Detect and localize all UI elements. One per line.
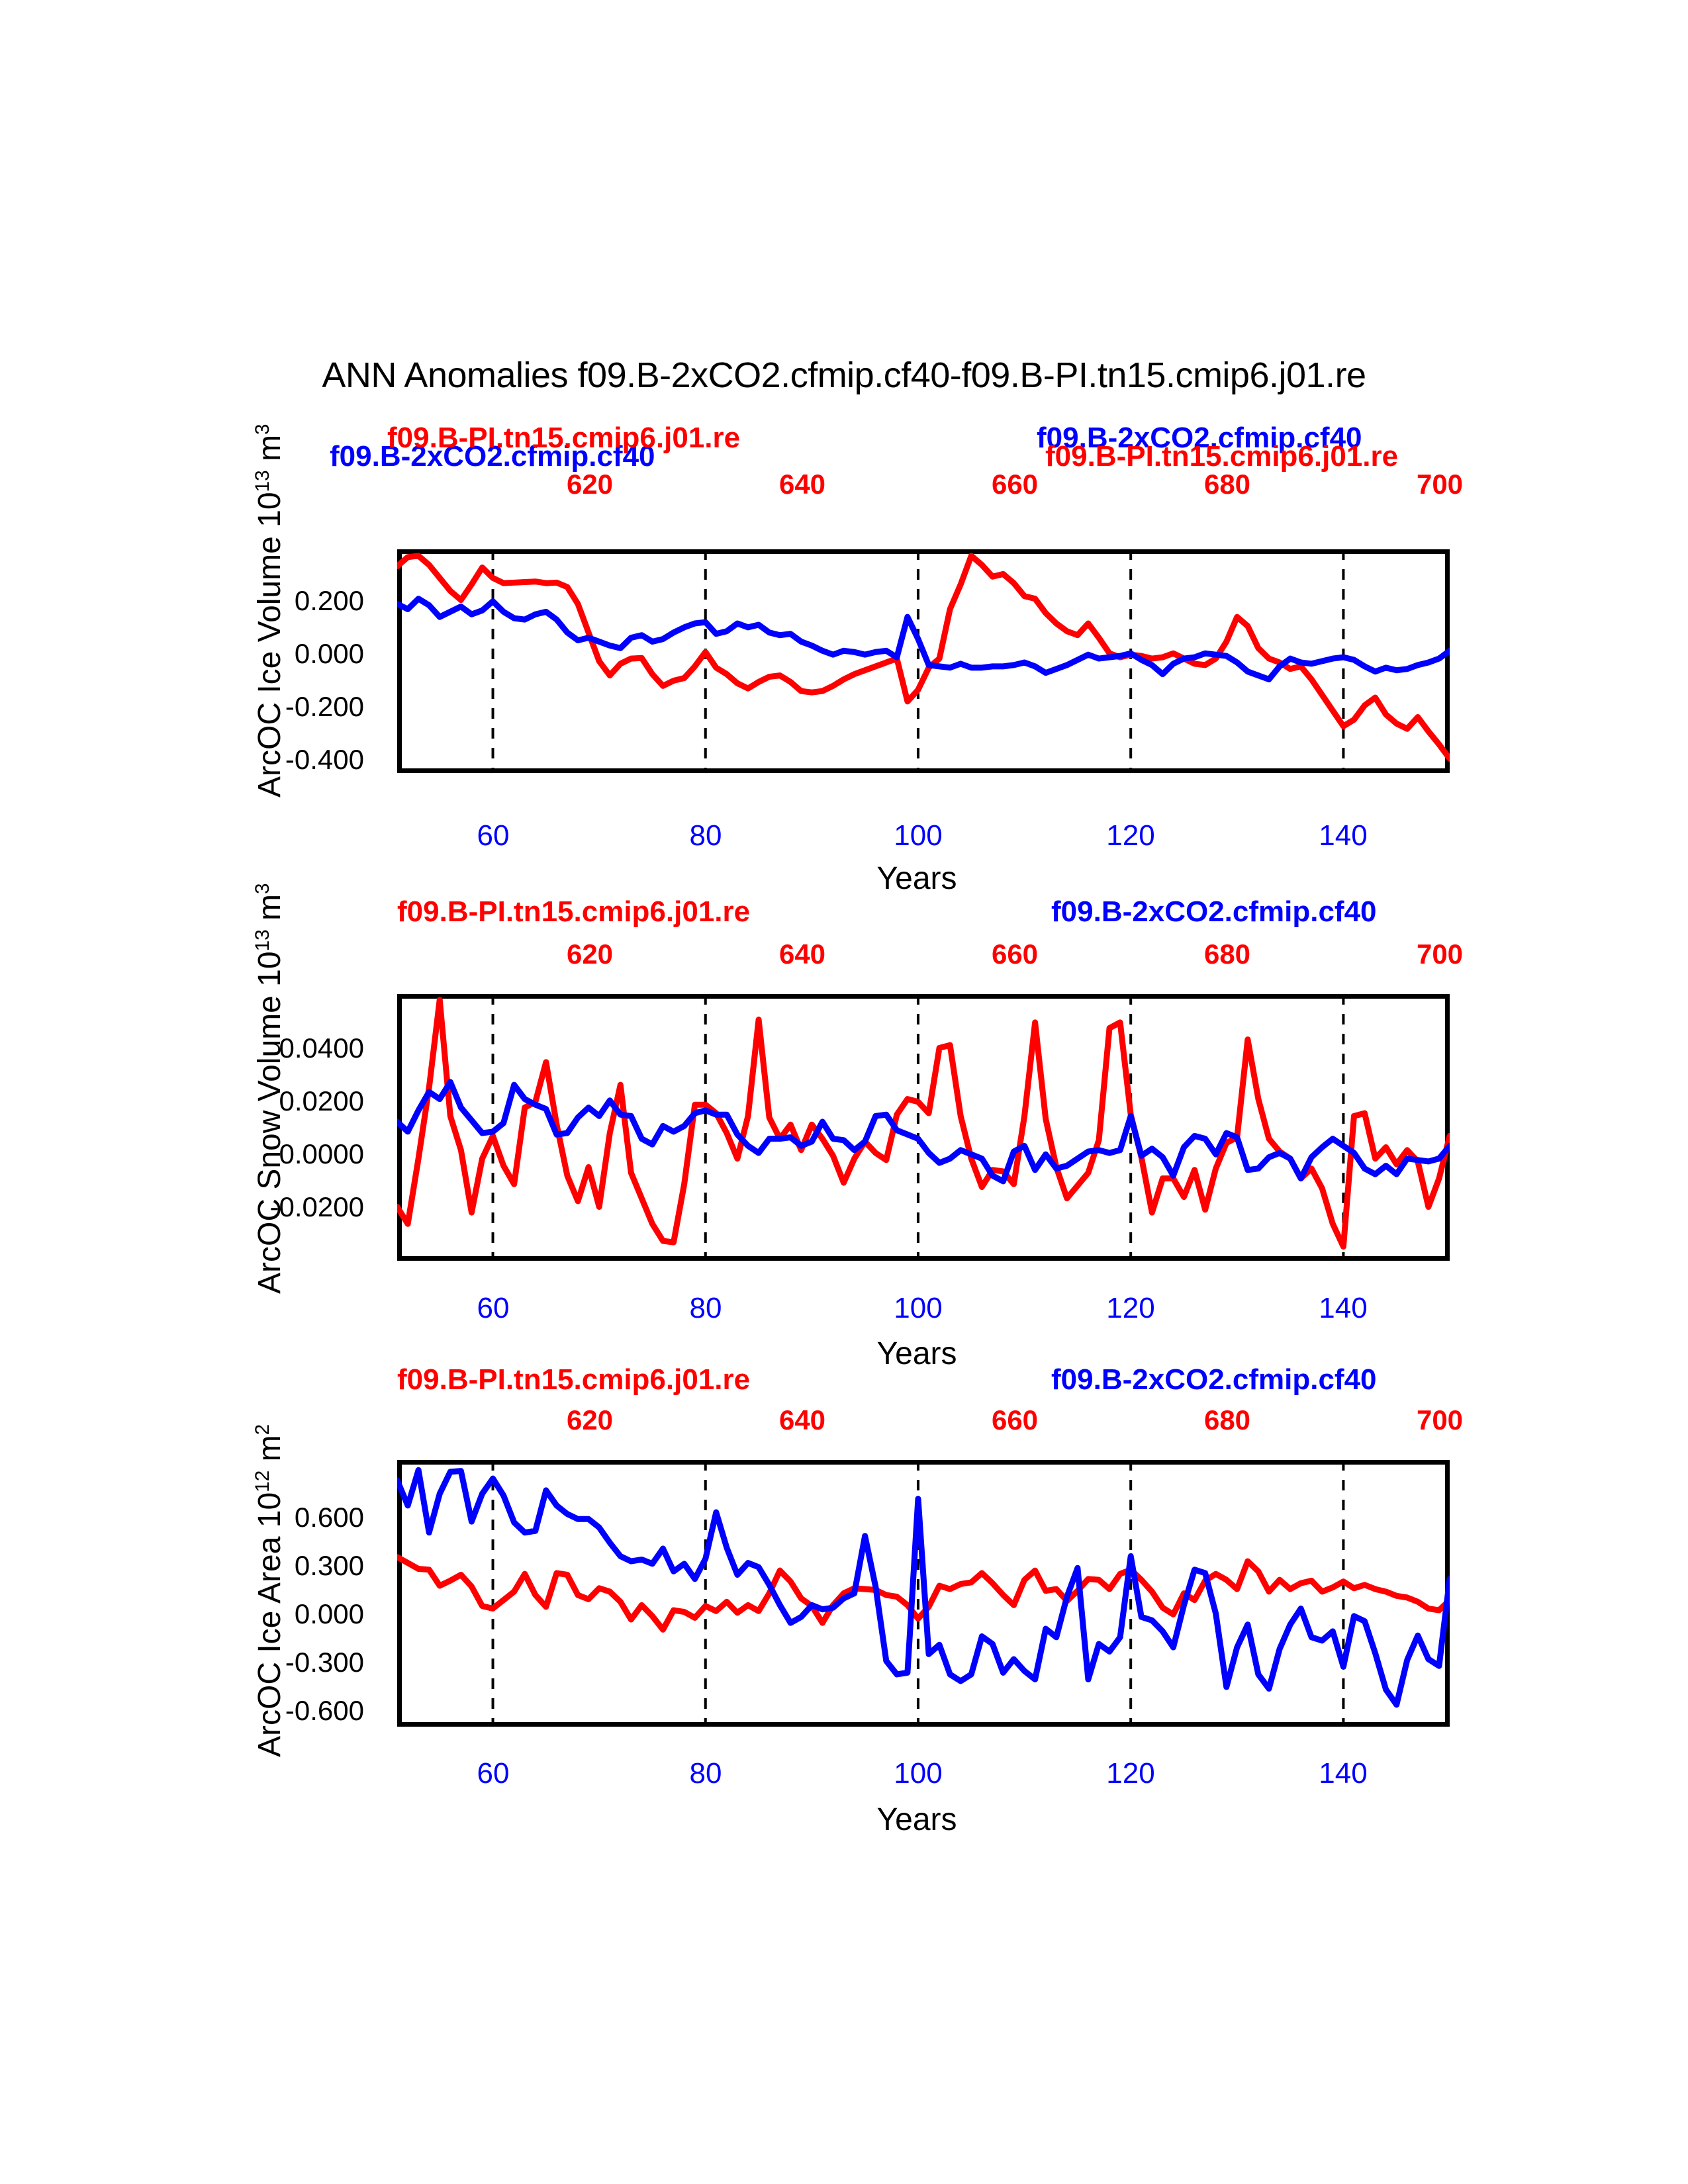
panel2-header-left-red: f09.B-PI.tn15.cmip6.j01.re [397,895,750,929]
panel1-top-tick-640: 640 [779,469,825,500]
panel1-y-axis-unit-exponent: 3 [252,424,273,435]
panel2-bottom-tick-120: 120 [1106,1292,1154,1325]
panel3-bottom-tick-80: 80 [690,1757,722,1790]
panel2-header-right-blue: f09.B-2xCO2.cfmip.cf40 [1051,895,1377,929]
panel3-top-tick-620: 620 [567,1404,613,1436]
panel1-top-tick-660: 660 [992,469,1038,500]
panel3-header-right-blue: f09.B-2xCO2.cfmip.cf40 [1051,1363,1377,1396]
panel3-top-tick-660: 660 [992,1404,1038,1436]
panel1-top-tick-620: 620 [567,469,613,500]
panel1-plot-area [397,549,1450,773]
panel1-svg [397,549,1450,773]
panel2-top-tick-680: 680 [1204,938,1250,970]
panel3-svg [397,1460,1450,1727]
panel2-plot-area [397,994,1450,1261]
panel1-bottom-tick-100: 100 [894,819,942,852]
panel3-header-left-red: f09.B-PI.tn15.cmip6.j01.re [397,1363,750,1396]
figure-page: ANN Anomalies f09.B-2xCO2.cfmip.cf40-f09… [0,0,1688,2184]
panel2-bottom-tick-60: 60 [477,1292,510,1325]
panel2-top-tick-700: 700 [1417,938,1463,970]
panel3-y-axis-title: ArcOC Ice Area 1012 m2 [252,1424,288,1757]
panel3-bottom-tick-60: 60 [477,1757,510,1790]
panel3-top-tick-700: 700 [1417,1404,1463,1436]
panel2-y-axis-exponent: 13 [252,929,273,951]
panel3-x-axis-title: Years [877,1801,957,1838]
panel3-y-axis-exponent: 12 [252,1471,273,1492]
panel2-y-axis-title-text: ArcOC Snow Volume 10 [252,951,287,1294]
panel2-svg [397,994,1450,1261]
panel2-y-axis-unit: m [252,894,287,921]
panel2-top-tick-660: 660 [992,938,1038,970]
panel1-y-axis-title: ArcOC Ice Volume 1013 m3 [252,424,288,798]
panel2-bottom-tick-80: 80 [690,1292,722,1325]
panel1-y-axis-title-text: ArcOC Ice Volume 10 [252,492,287,797]
panel3-y-axis-unit-exponent: 2 [252,1424,273,1435]
panel3-top-tick-640: 640 [779,1404,825,1436]
panel2-x-axis-title: Years [877,1336,957,1372]
panel1-header-left-red: f09.B-PI.tn15.cmip6.j01.re [387,422,740,455]
panel3-bottom-tick-120: 120 [1106,1757,1154,1790]
panel2-top-tick-620: 620 [567,938,613,970]
panel3-bottom-tick-140: 140 [1319,1757,1367,1790]
panel2-y-axis-title: ArcOC Snow Volume 1013 m3 [252,883,288,1294]
panel3-y-axis-title-text: ArcOC Ice Area 10 [252,1492,287,1757]
panel1-y-axis-unit: m [252,435,287,461]
panel3-top-tick-680: 680 [1204,1404,1250,1436]
panel3-y-axis-unit: m [252,1435,287,1461]
panel3-plot-area [397,1460,1450,1727]
panel1-bottom-tick-120: 120 [1106,819,1154,852]
panel2-y-axis-unit-exponent: 3 [252,883,273,894]
panel1-bottom-tick-140: 140 [1319,819,1367,852]
panel1-top-tick-700: 700 [1417,469,1463,500]
panel1-top-tick-680: 680 [1204,469,1250,500]
panel1-y-axis-exponent: 13 [252,470,273,492]
panel1-bottom-tick-80: 80 [690,819,722,852]
panel1-bottom-tick-60: 60 [477,819,510,852]
panel1-x-axis-title: Years [877,860,957,897]
panel2-bottom-tick-100: 100 [894,1292,942,1325]
panel2-top-tick-640: 640 [779,938,825,970]
panel2-bottom-tick-140: 140 [1319,1292,1367,1325]
figure-title: ANN Anomalies f09.B-2xCO2.cfmip.cf40-f09… [0,355,1688,396]
panel3-bottom-tick-100: 100 [894,1757,942,1790]
